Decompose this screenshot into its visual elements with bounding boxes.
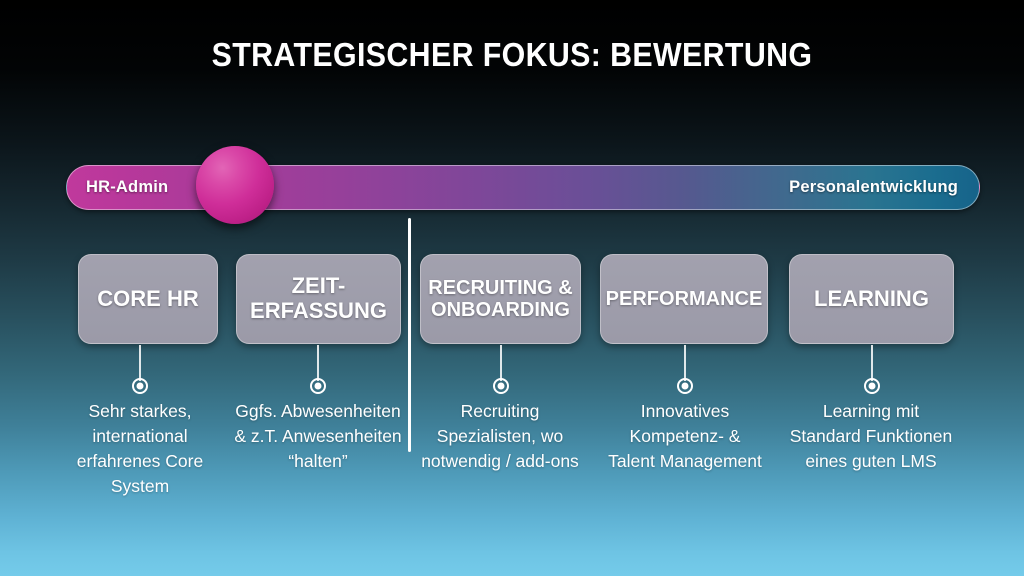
category-label: ZEIT-ERFASSUNG [237, 274, 400, 323]
spectrum-slider-knob[interactable] [196, 146, 274, 224]
category-box-recruiting-onboarding[interactable]: RECRUITING & ONBOARDING [420, 254, 581, 344]
page-title: STRATEGISCHER FOKUS: BEWERTUNG [41, 36, 983, 74]
category-label: PERFORMANCE [600, 288, 769, 310]
spectrum-right-label: Personalentwicklung [789, 165, 958, 210]
connector-dot-icon [132, 378, 148, 394]
connector-stem [139, 345, 141, 381]
category-box-core-hr[interactable]: CORE HR [78, 254, 218, 344]
section-divider [408, 218, 411, 452]
spectrum-left-label: HR-Admin [86, 165, 168, 210]
category-box-zeiterfassung[interactable]: ZEIT-ERFASSUNG [236, 254, 401, 344]
category-label: CORE HR [91, 287, 204, 312]
connector-dot-icon [310, 378, 326, 394]
category-caption: Sehr starkes, international erfahrenes C… [56, 399, 224, 498]
category-label: LEARNING [808, 287, 935, 312]
connector-dot-icon [864, 378, 880, 394]
connector-dot-icon [677, 378, 693, 394]
category-box-learning[interactable]: LEARNING [789, 254, 954, 344]
connector-stem [684, 345, 686, 381]
category-caption: Recruiting Spezialisten, wo notwendig / … [420, 399, 580, 474]
connector-stem [317, 345, 319, 381]
category-caption: Innovatives Kompetenz- & Talent Manageme… [604, 399, 766, 474]
connector-dot-icon [493, 378, 509, 394]
slide-canvas: STRATEGISCHER FOKUS: BEWERTUNG HR-Admin … [0, 0, 1024, 576]
category-caption: Learning mit Standard Funktionen eines g… [786, 399, 956, 474]
connector-stem [871, 345, 873, 381]
category-caption: Ggfs. Abwesenheiten & z.T. Anwesenheiten… [230, 399, 406, 474]
connector-stem [500, 345, 502, 381]
category-label: RECRUITING & ONBOARDING [421, 277, 580, 322]
category-box-performance[interactable]: PERFORMANCE [600, 254, 768, 344]
